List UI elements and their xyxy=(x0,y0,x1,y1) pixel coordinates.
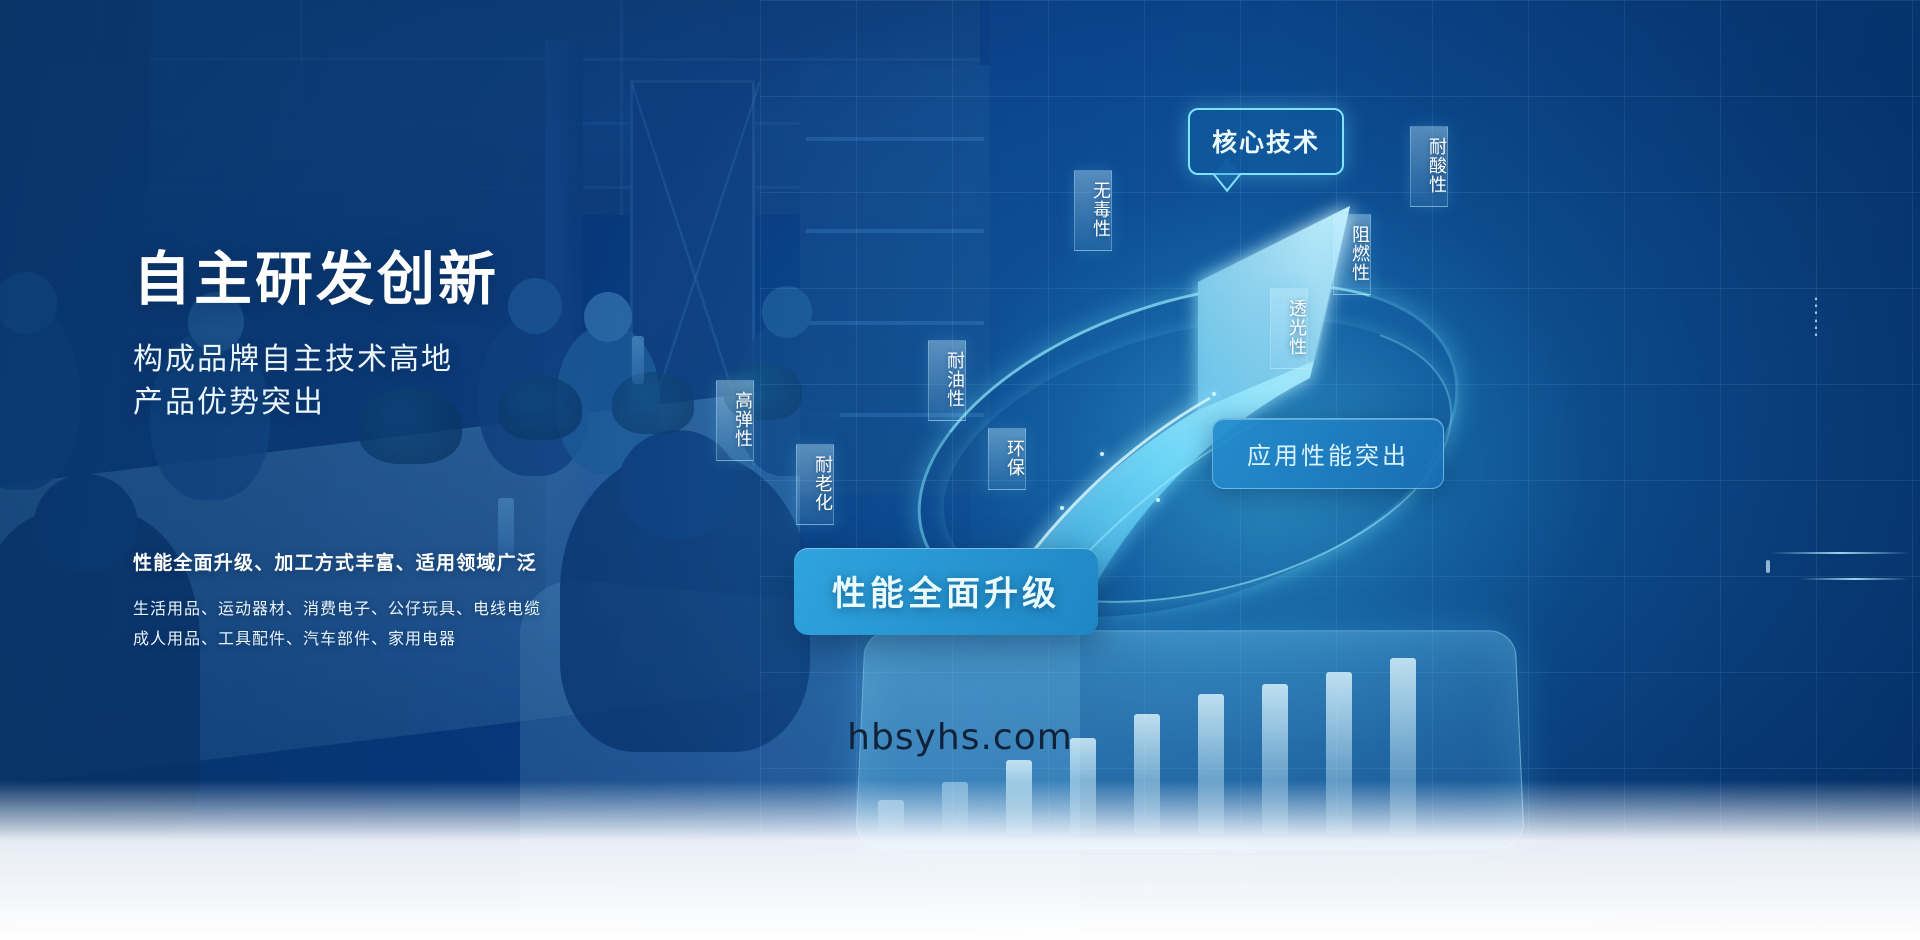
sparkle xyxy=(1156,498,1160,502)
property-chip[interactable]: 耐油性 xyxy=(928,340,966,421)
application-performance-button[interactable]: 应用性能突出 xyxy=(1212,418,1444,489)
sparkle xyxy=(1100,452,1104,456)
property-chip[interactable]: 耐老化 xyxy=(796,444,834,525)
bottom-fade xyxy=(0,780,1920,940)
sparkle xyxy=(1060,506,1064,510)
watermark: hbsyhs.com xyxy=(0,717,1920,758)
light-streak xyxy=(1770,552,1910,554)
tick-mark xyxy=(1766,560,1770,573)
property-chip[interactable]: 耐酸性 xyxy=(1410,126,1448,207)
property-chip[interactable]: 无毒性 xyxy=(1074,170,1112,251)
property-chip[interactable]: 透光性 xyxy=(1270,288,1308,369)
page-title: 自主研发创新 xyxy=(133,248,833,312)
performance-upgrade-banner: 性能全面升级 xyxy=(794,548,1098,635)
dot-column: ⋮ xyxy=(1806,322,1826,334)
sparkle xyxy=(1212,392,1216,396)
subtitle-line-1: 构成品牌自主技术高地 xyxy=(133,338,833,381)
dot-column: ⋮ xyxy=(1806,300,1826,312)
property-chip[interactable]: 阻燃性 xyxy=(1333,214,1371,295)
core-technology-badge[interactable]: 核心技术 xyxy=(1188,108,1344,175)
property-chip[interactable]: 高弹性 xyxy=(716,380,754,461)
hero-banner: 自主研发创新 构成品牌自主技术高地 产品优势突出 性能全面升级、加工方式丰富、适… xyxy=(0,0,1920,940)
property-chip[interactable]: 环保 xyxy=(988,428,1026,490)
light-streak xyxy=(1800,578,1908,580)
